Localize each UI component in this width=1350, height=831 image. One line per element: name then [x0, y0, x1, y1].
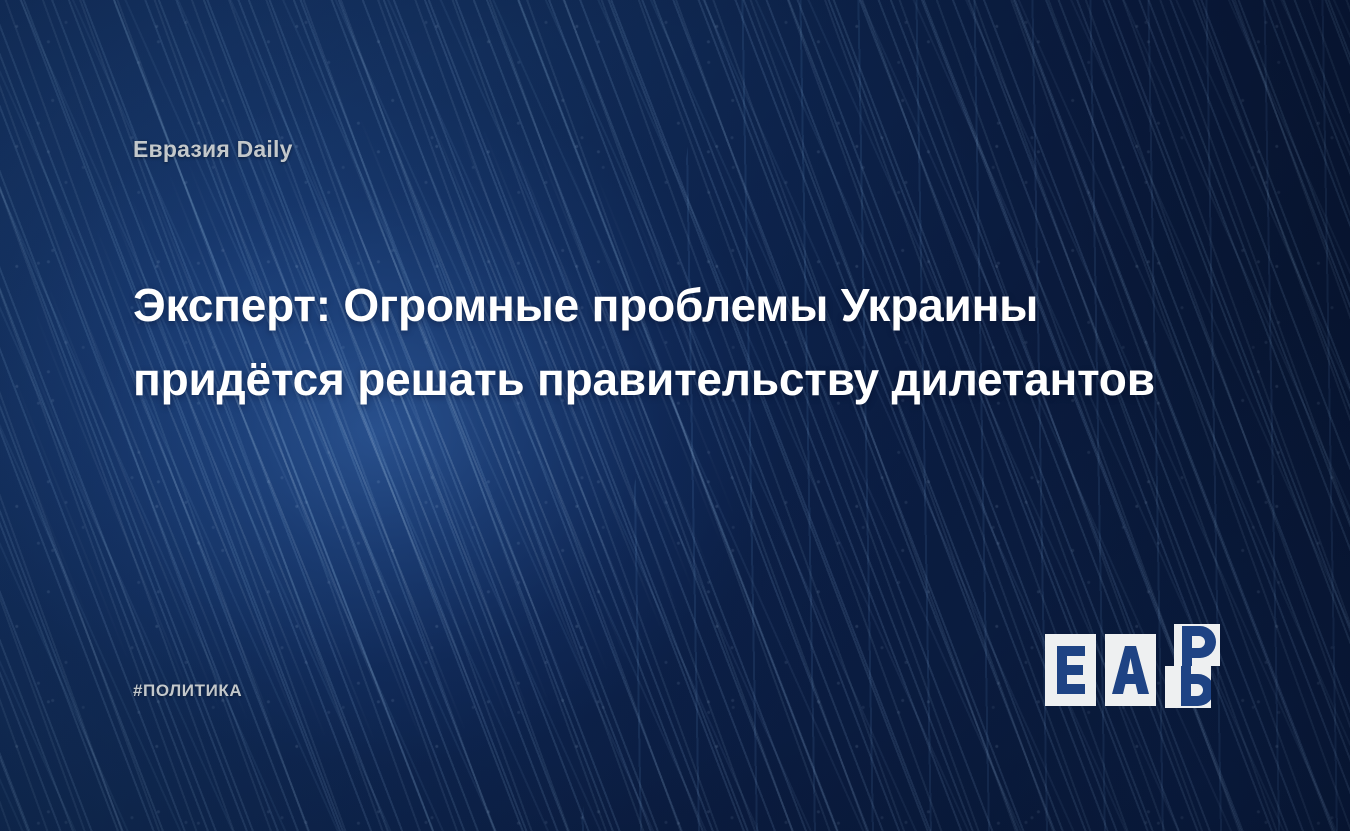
- article-share-card: Евразия Daily Эксперт: Огромные проблемы…: [0, 0, 1350, 831]
- logo-letter-d-upper-icon: [1174, 624, 1220, 666]
- card-content: Евразия Daily Эксперт: Огромные проблемы…: [0, 0, 1350, 831]
- logo-letter-d-lower-icon: [1165, 666, 1211, 708]
- category-hashtag: #ПОЛИТИКА: [133, 681, 242, 701]
- logo-tile-e: [1045, 634, 1096, 706]
- logo-tile-d-top: [1174, 624, 1220, 666]
- logo-tile-a: [1105, 634, 1156, 706]
- brand-name: Евразия Daily: [133, 136, 293, 163]
- logo-letter-e-icon: [1045, 634, 1096, 706]
- eadaily-logo: [1045, 634, 1220, 706]
- logo-letter-a-icon: [1105, 634, 1156, 706]
- page-title: Эксперт: Огромные проблемы Украины придё…: [133, 268, 1238, 416]
- logo-tile-d-bottom: [1165, 666, 1211, 708]
